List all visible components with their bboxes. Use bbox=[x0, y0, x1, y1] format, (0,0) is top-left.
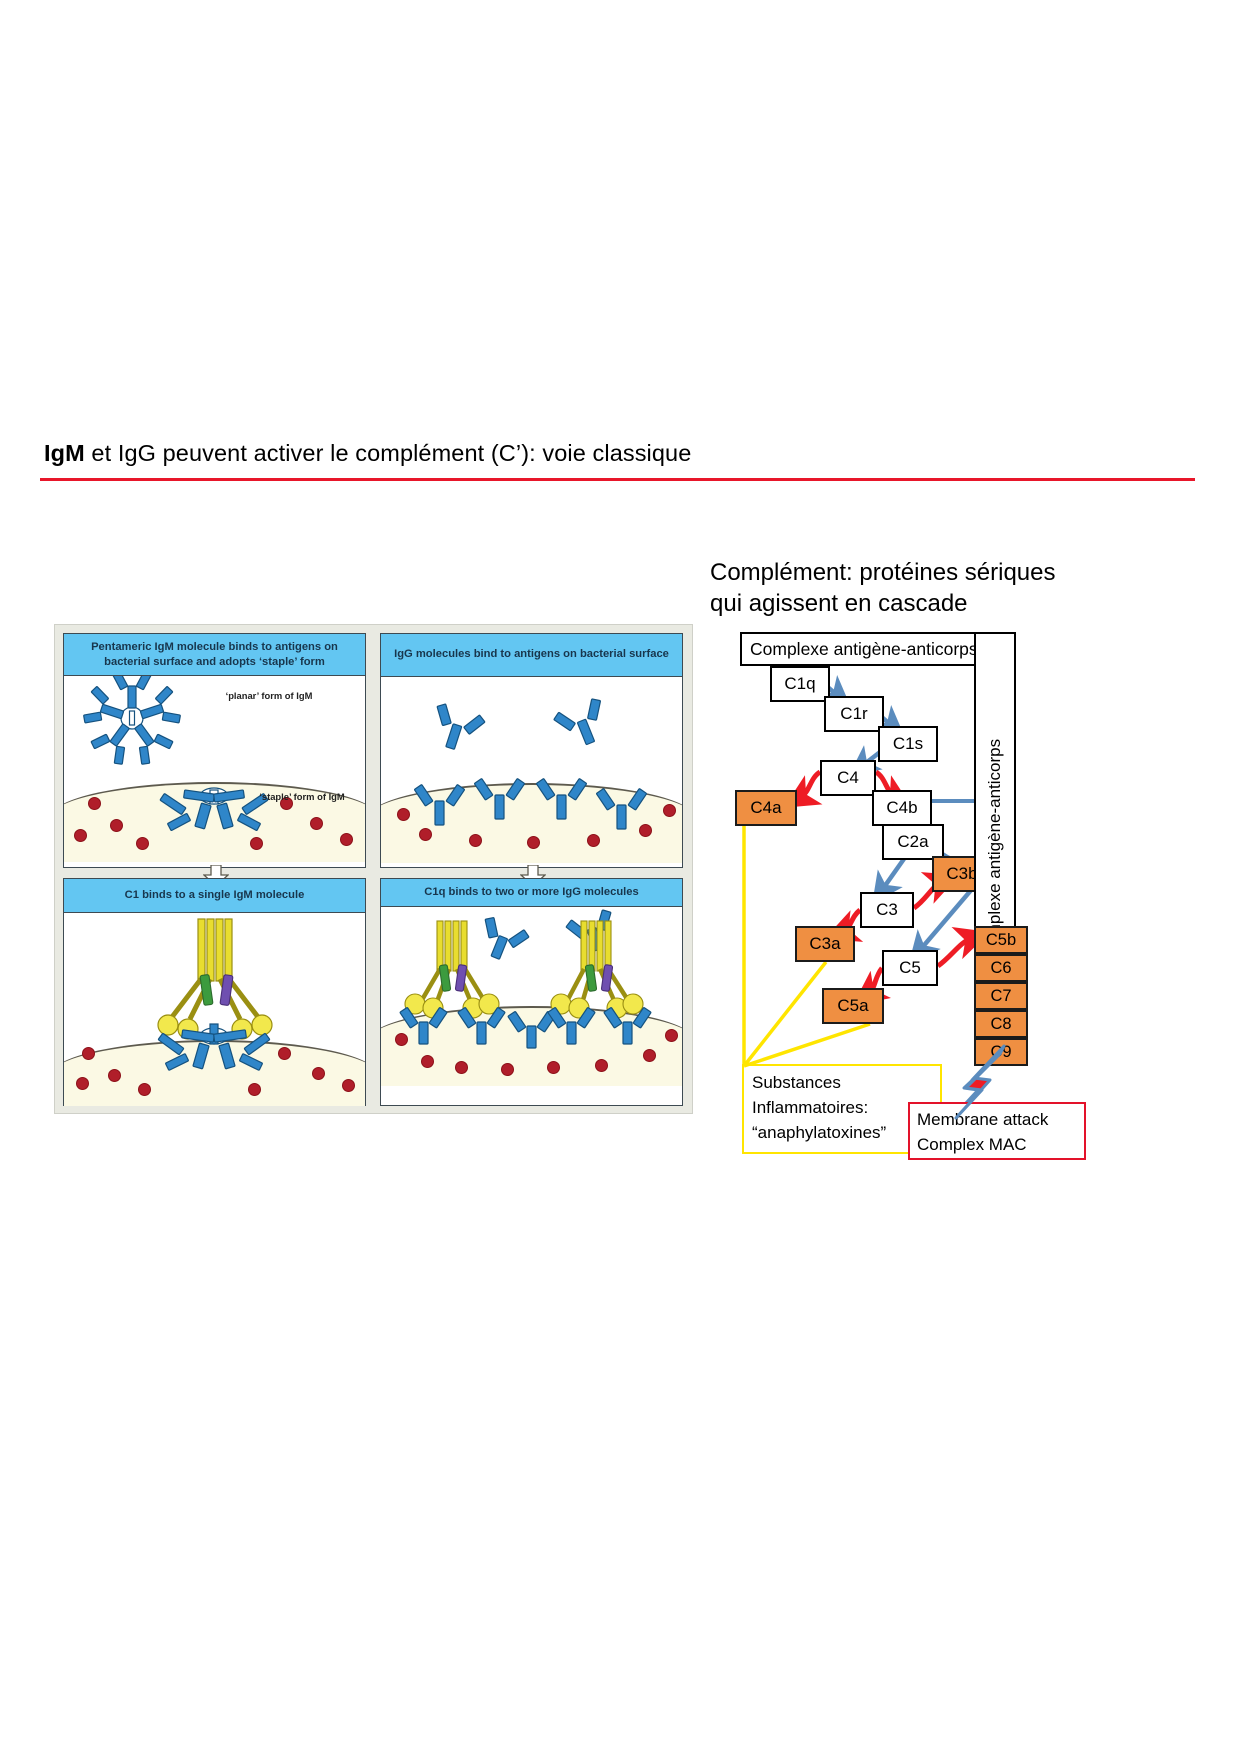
figure-panel-bottom-left-body bbox=[64, 913, 365, 1106]
antigen-dot bbox=[395, 1033, 408, 1046]
node-c3a[interactable]: C3a bbox=[795, 926, 855, 962]
cascade-heading-line2: qui agissent en cascade bbox=[710, 588, 1110, 619]
node-c5[interactable]: C5 bbox=[882, 950, 938, 986]
antigen-dot bbox=[278, 1047, 291, 1060]
mac-component-c5b[interactable]: C5b bbox=[974, 926, 1028, 954]
antigen-dot bbox=[397, 808, 410, 821]
node-c5a[interactable]: C5a bbox=[822, 988, 884, 1024]
antigen-dot bbox=[108, 1069, 121, 1082]
node-c1s[interactable]: C1s bbox=[878, 726, 938, 762]
antigen-dot bbox=[250, 837, 263, 850]
page-title: IgM et IgG peuvent activer le complément… bbox=[44, 440, 1194, 467]
title-underline-rule bbox=[40, 478, 1195, 481]
node-complexe-antigene-anticorps-top[interactable]: Complexe antigène-anticorps bbox=[740, 632, 1010, 666]
antigen-dot bbox=[639, 824, 652, 837]
antigen-dot bbox=[663, 804, 676, 817]
mac-box-line2: Complex MAC bbox=[917, 1132, 1084, 1157]
cascade-heading: Complément: protéines sériques qui agiss… bbox=[710, 557, 1110, 619]
antigen-dot bbox=[501, 1063, 514, 1076]
antigen-dot bbox=[310, 817, 323, 830]
inflammatory-line1: Substances bbox=[752, 1070, 940, 1095]
antigen-dot bbox=[136, 837, 149, 850]
antigen-dot bbox=[110, 819, 123, 832]
igg-bound-c1q-illustration bbox=[381, 982, 681, 1086]
antigen-dot bbox=[547, 1061, 560, 1074]
figure-panel-bottom-left-banner: C1 binds to a single IgM molecule bbox=[64, 879, 365, 913]
node-c4a[interactable]: C4a bbox=[735, 790, 797, 826]
figure-panel-top-right-banner: IgG molecules bind to antigens on bacter… bbox=[381, 634, 682, 677]
figure-panel-top-left-body: ‘planar’ form of IgM ‘staple’ form of Ig… bbox=[64, 676, 365, 862]
node-c4[interactable]: C4 bbox=[820, 760, 876, 796]
antigen-dot bbox=[342, 1079, 355, 1092]
figure-panel-bottom-right-banner: C1q binds to two or more IgG molecules bbox=[381, 879, 682, 907]
page-title-rest: et IgG peuvent activer le complément (C’… bbox=[85, 440, 692, 466]
cascade-heading-line1: Complément: protéines sériques bbox=[710, 557, 1110, 588]
antigen-dot bbox=[419, 828, 432, 841]
figure-panel-top-right-body bbox=[381, 677, 682, 863]
antigen-dot bbox=[74, 829, 87, 842]
figure-panel-bottom-right: C1q binds to two or more IgG molecules bbox=[380, 878, 683, 1106]
mac-component-c7[interactable]: C7 bbox=[974, 982, 1028, 1010]
node-c4b[interactable]: C4b bbox=[872, 790, 932, 826]
mac-component-c6[interactable]: C6 bbox=[974, 954, 1028, 982]
igm-igg-complement-figure: Pentameric IgM molecule binds to antigen… bbox=[54, 624, 693, 1114]
complement-cascade-diagram: Complexe antigène-anticorps C1q C1r C1s … bbox=[710, 620, 1110, 1200]
staple-igm-illustration bbox=[64, 766, 364, 862]
antigen-dot bbox=[665, 1029, 678, 1042]
page-title-bold: IgM bbox=[44, 440, 85, 466]
figure-panel-top-left: Pentameric IgM molecule binds to antigen… bbox=[63, 633, 366, 868]
planar-form-label: ‘planar’ form of IgM bbox=[214, 690, 324, 701]
figure-panel-bottom-right-body bbox=[381, 907, 682, 1086]
antigen-dot bbox=[82, 1047, 95, 1060]
figure-panel-top-right: IgG molecules bind to antigens on bacter… bbox=[380, 633, 683, 868]
figure-panel-bottom-left: C1 binds to a single IgM molecule bbox=[63, 878, 366, 1106]
antigen-dot bbox=[469, 834, 482, 847]
node-c2a[interactable]: C2a bbox=[882, 824, 944, 860]
antigen-dot bbox=[587, 834, 600, 847]
antigen-dot bbox=[312, 1067, 325, 1080]
mac-component-c9[interactable]: C9 bbox=[974, 1038, 1028, 1066]
antigen-dot bbox=[595, 1059, 608, 1072]
antigen-dot bbox=[643, 1049, 656, 1062]
node-c3[interactable]: C3 bbox=[860, 892, 914, 928]
staple-igm-c1-illustration bbox=[64, 1010, 364, 1106]
antigen-dot bbox=[76, 1077, 89, 1090]
node-c1q[interactable]: C1q bbox=[770, 666, 830, 702]
antigen-dot bbox=[340, 833, 353, 846]
membrane-attack-complex-box[interactable]: Membrane attack Complex MAC bbox=[908, 1102, 1086, 1160]
antigen-dot bbox=[455, 1061, 468, 1074]
antigen-dot bbox=[248, 1083, 261, 1096]
figure-panel-top-left-banner: Pentameric IgM molecule binds to antigen… bbox=[64, 634, 365, 676]
mac-box-line1: Membrane attack bbox=[917, 1107, 1084, 1132]
antigen-dot bbox=[138, 1083, 151, 1096]
node-c1r[interactable]: C1r bbox=[824, 696, 884, 732]
antigen-dot bbox=[88, 797, 101, 810]
mac-component-c8[interactable]: C8 bbox=[974, 1010, 1028, 1038]
antigen-dot bbox=[527, 836, 540, 849]
antigen-dot bbox=[421, 1055, 434, 1068]
staple-form-label: ‘staple’ form of IgM bbox=[250, 791, 354, 802]
